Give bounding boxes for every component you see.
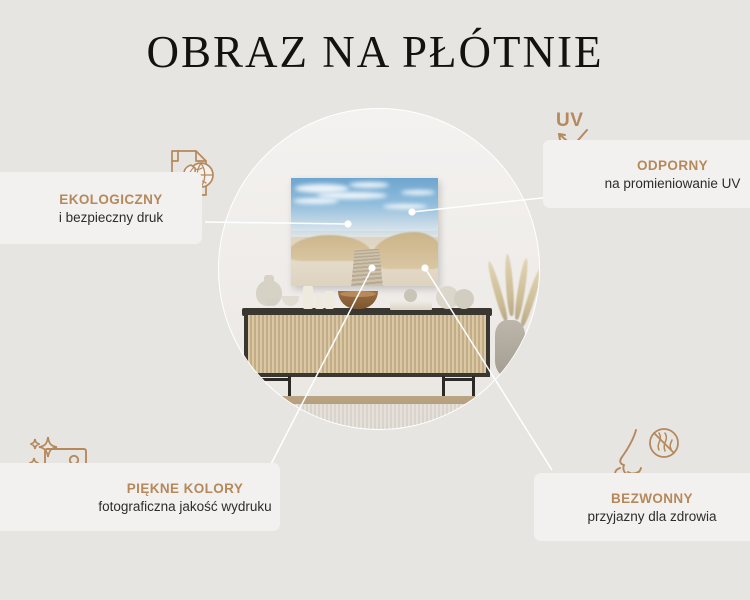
feature-subtitle-kolory: fotograficzna jakość wydruku: [98, 499, 271, 514]
page-title: OBRAZ NA PŁÓTNIE: [0, 26, 750, 78]
feature-card-bezwonny[interactable]: BEZWONNY przyjazny dla zdrowia: [534, 473, 750, 541]
candle: [315, 294, 324, 309]
feature-title-kolory: PIĘKNE KOLORY: [127, 481, 243, 496]
feature-card-uv[interactable]: ODPORNY na promieniowanie UV: [543, 140, 750, 208]
feature-subtitle-uv: na promieniowanie UV: [605, 176, 741, 191]
feature-title-bezwonny: BEZWONNY: [611, 491, 693, 506]
artwork-boardwalk: [351, 249, 383, 286]
ceramic-vase: [454, 289, 474, 309]
feature-title-eco: EKOLOGICZNY: [59, 192, 162, 207]
cloud: [383, 204, 427, 209]
stoneware-vase: [495, 320, 525, 378]
sideboard-body: [244, 315, 490, 377]
candle: [303, 286, 313, 309]
sideboard-brace: [258, 378, 291, 381]
feature-subtitle-eco: i bezpieczny druk: [59, 210, 163, 225]
canvas-artwork: [291, 178, 438, 286]
feature-title-uv: ODPORNY: [637, 158, 708, 173]
feature-card-kolory[interactable]: PIĘKNE KOLORY fotograficzna jakość wydru…: [0, 463, 280, 531]
infographic-stage: OBRAZ NA PŁÓTNIE: [0, 0, 750, 600]
floor-rug: [224, 404, 540, 430]
candle: [325, 291, 334, 309]
cloud: [401, 190, 435, 195]
cloud: [293, 198, 339, 204]
cloud: [349, 182, 389, 188]
feature-subtitle-bezwonny: przyjazny dla zdrowia: [587, 509, 716, 524]
decor-sphere: [404, 289, 417, 302]
feature-card-eco[interactable]: EKOLOGICZNY i bezpieczny druk: [0, 172, 202, 244]
stacked-books: [390, 301, 432, 310]
room-scene-circle: [218, 108, 540, 430]
sideboard-brace: [442, 378, 475, 381]
